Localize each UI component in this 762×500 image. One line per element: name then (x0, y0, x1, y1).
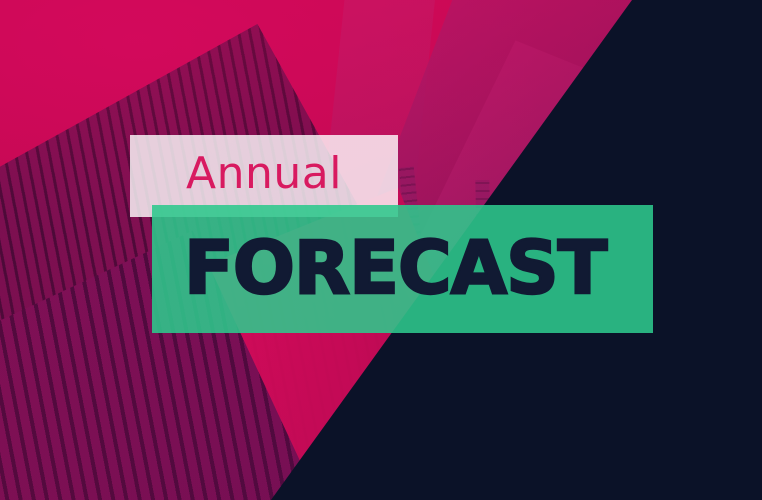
eyebrow-label: Annual (186, 144, 396, 204)
headline-label: FORECAST (184, 216, 654, 322)
banner-canvas: Annual FORECAST (0, 0, 762, 500)
